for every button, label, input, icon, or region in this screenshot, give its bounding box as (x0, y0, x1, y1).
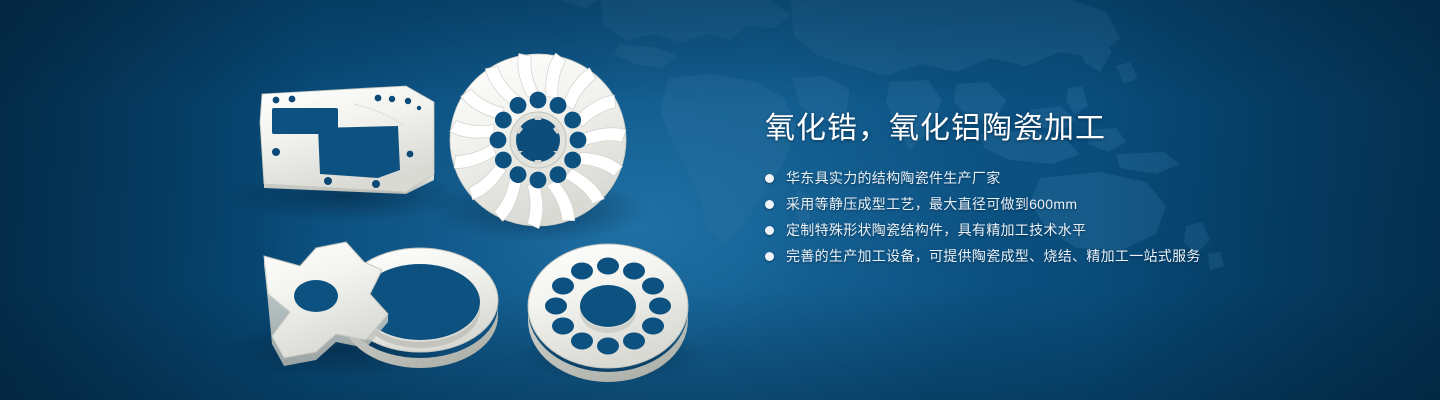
bullet-dot-icon (765, 174, 774, 183)
list-item: 定制特殊形状陶瓷结构件，具有精加工技术水平 (765, 220, 1405, 241)
feature-text: 采用等静压成型工艺，最大直径可做到600mm (786, 194, 1077, 215)
ceramic-plate-with-cutouts (260, 86, 434, 194)
page-title: 氧化锆，氧化铝陶瓷加工 (765, 108, 1405, 150)
hero-banner: 氧化锆，氧化铝陶瓷加工 华东具实力的结构陶瓷件生产厂家 采用等静压成型工艺，最大… (0, 0, 1440, 400)
product-photo-cluster (0, 0, 740, 400)
banner-copy: 氧化锆，氧化铝陶瓷加工 华东具实力的结构陶瓷件生产厂家 采用等静压成型工艺，最大… (765, 108, 1405, 272)
feature-list: 华东具实力的结构陶瓷件生产厂家 采用等静压成型工艺，最大直径可做到600mm 定… (765, 168, 1405, 267)
list-item: 采用等静压成型工艺，最大直径可做到600mm (765, 194, 1405, 215)
list-item: 华东具实力的结构陶瓷件生产厂家 (765, 168, 1405, 189)
bullet-dot-icon (765, 252, 774, 261)
bullet-dot-icon (765, 226, 774, 235)
feature-text: 华东具实力的结构陶瓷件生产厂家 (786, 168, 1001, 189)
bullet-dot-icon (765, 200, 774, 209)
list-item: 完善的生产加工设备，可提供陶瓷成型、烧结、精加工一站式服务 (765, 246, 1405, 267)
feature-text: 定制特殊形状陶瓷结构件，具有精加工技术水平 (786, 220, 1086, 241)
ceramic-perforated-disc (528, 244, 688, 382)
feature-text: 完善的生产加工设备，可提供陶瓷成型、烧结、精加工一站式服务 (786, 246, 1201, 267)
